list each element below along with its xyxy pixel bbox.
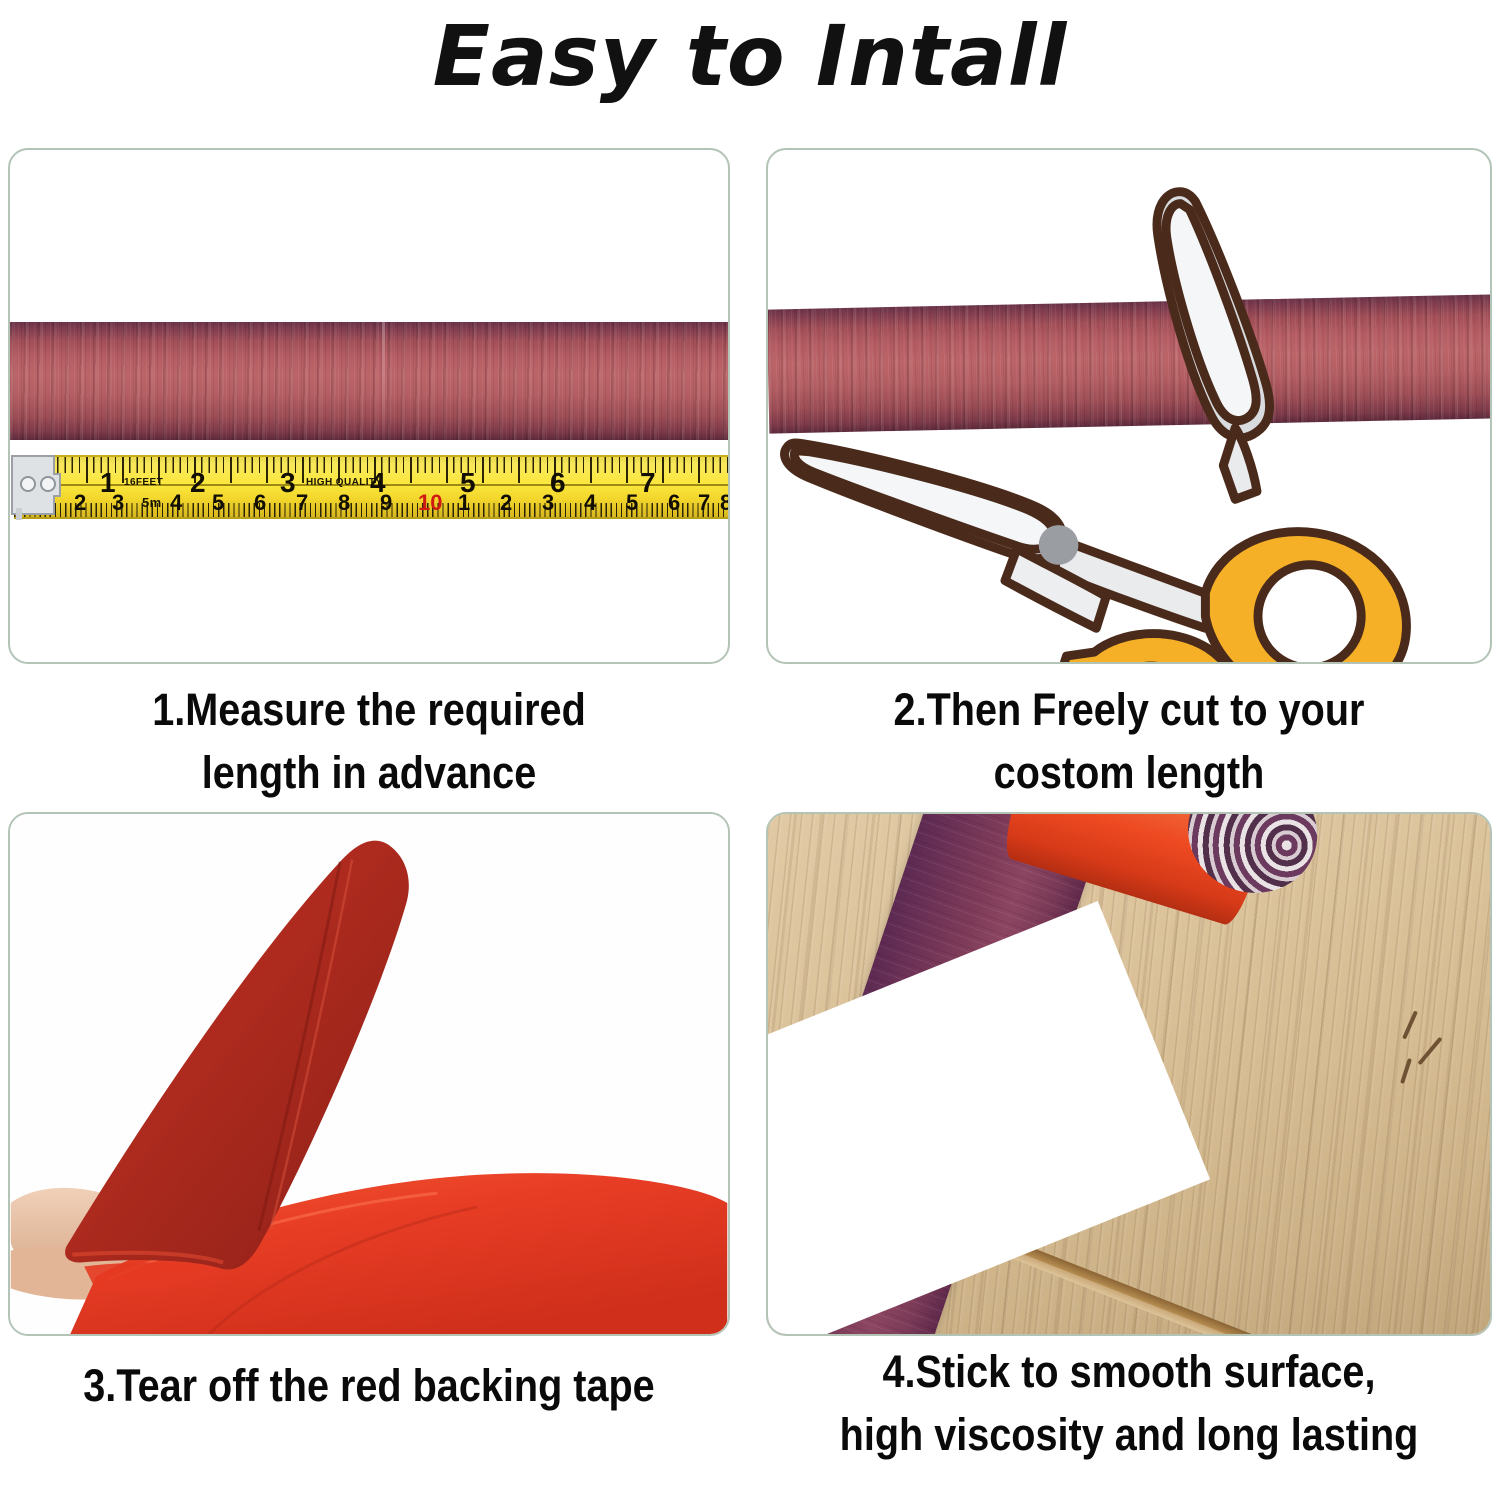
tape-bottom-number: 8 [720, 492, 730, 514]
tape-top-number: 2 [190, 469, 206, 497]
wood-trim-strip-image [10, 322, 730, 440]
tape-bottom-number: 2 [500, 492, 512, 514]
tape-bottom-number: 8 [338, 492, 350, 514]
tape-bottom-number: 3 [112, 492, 124, 514]
tape-bottom-number: 9 [380, 492, 392, 514]
tape-bottom-number: 6 [254, 492, 266, 514]
tape-bottom-number: 5 [212, 492, 224, 514]
strip-seam [382, 322, 385, 440]
tape-bottom-number: 1 [458, 492, 470, 514]
step-2-image-panel [766, 148, 1492, 664]
tape-quality-label: HIGH QUALITY [306, 477, 382, 488]
tape-bottom-number: 2 [74, 492, 86, 514]
tape-measure-image: 1 2 3 4 5 6 7 16FEET HIGH QUALITY 5m 2 3… [14, 455, 730, 519]
caption-line: 4.Stick to smooth surface, [810, 1340, 1449, 1403]
tape-bottom-number: 3 [542, 492, 554, 514]
red-backing-tape-peel-image [10, 814, 728, 1334]
tape-metric-label: 5m [142, 495, 162, 510]
step-1-image-panel: 1 2 3 4 5 6 7 16FEET HIGH QUALITY 5m 2 3… [8, 148, 730, 664]
step-4-image-panel [766, 812, 1492, 1336]
tape-bottom-number: 4 [584, 492, 596, 514]
tape-brand-label: 16FEET [124, 477, 163, 488]
page-title: Easy to Intall [0, 4, 1500, 108]
tape-bottom-number: 7 [698, 492, 710, 514]
caption-line: length in advance [51, 741, 686, 804]
step-4-caption: 4.Stick to smooth surface, high viscosit… [810, 1340, 1449, 1466]
tape-top-number: 3 [280, 469, 296, 497]
tape-top-number: 7 [640, 469, 656, 497]
caption-line: 2.Then Freely cut to your [810, 678, 1449, 741]
tape-measure-hook-icon [10, 448, 64, 522]
tape-bottom-number: 4 [170, 492, 182, 514]
tape-bottom-number: 6 [668, 492, 680, 514]
step-3-image-panel [8, 812, 730, 1336]
tape-bottom-number: 10 [418, 492, 442, 514]
step-2-caption: 2.Then Freely cut to your costom length [810, 678, 1449, 804]
step-1-caption: 1.Measure the required length in advance [51, 678, 686, 804]
tape-bottom-number: 7 [296, 492, 308, 514]
caption-line: 3.Tear off the red backing tape [51, 1354, 686, 1417]
caption-line: 1.Measure the required [51, 678, 686, 741]
scissors-icon [768, 150, 1490, 662]
caption-line: costom length [810, 741, 1449, 804]
step-3-caption: 3.Tear off the red backing tape [51, 1354, 686, 1417]
caption-line: high viscosity and long lasting [810, 1403, 1449, 1466]
tape-bottom-number: 5 [626, 492, 638, 514]
